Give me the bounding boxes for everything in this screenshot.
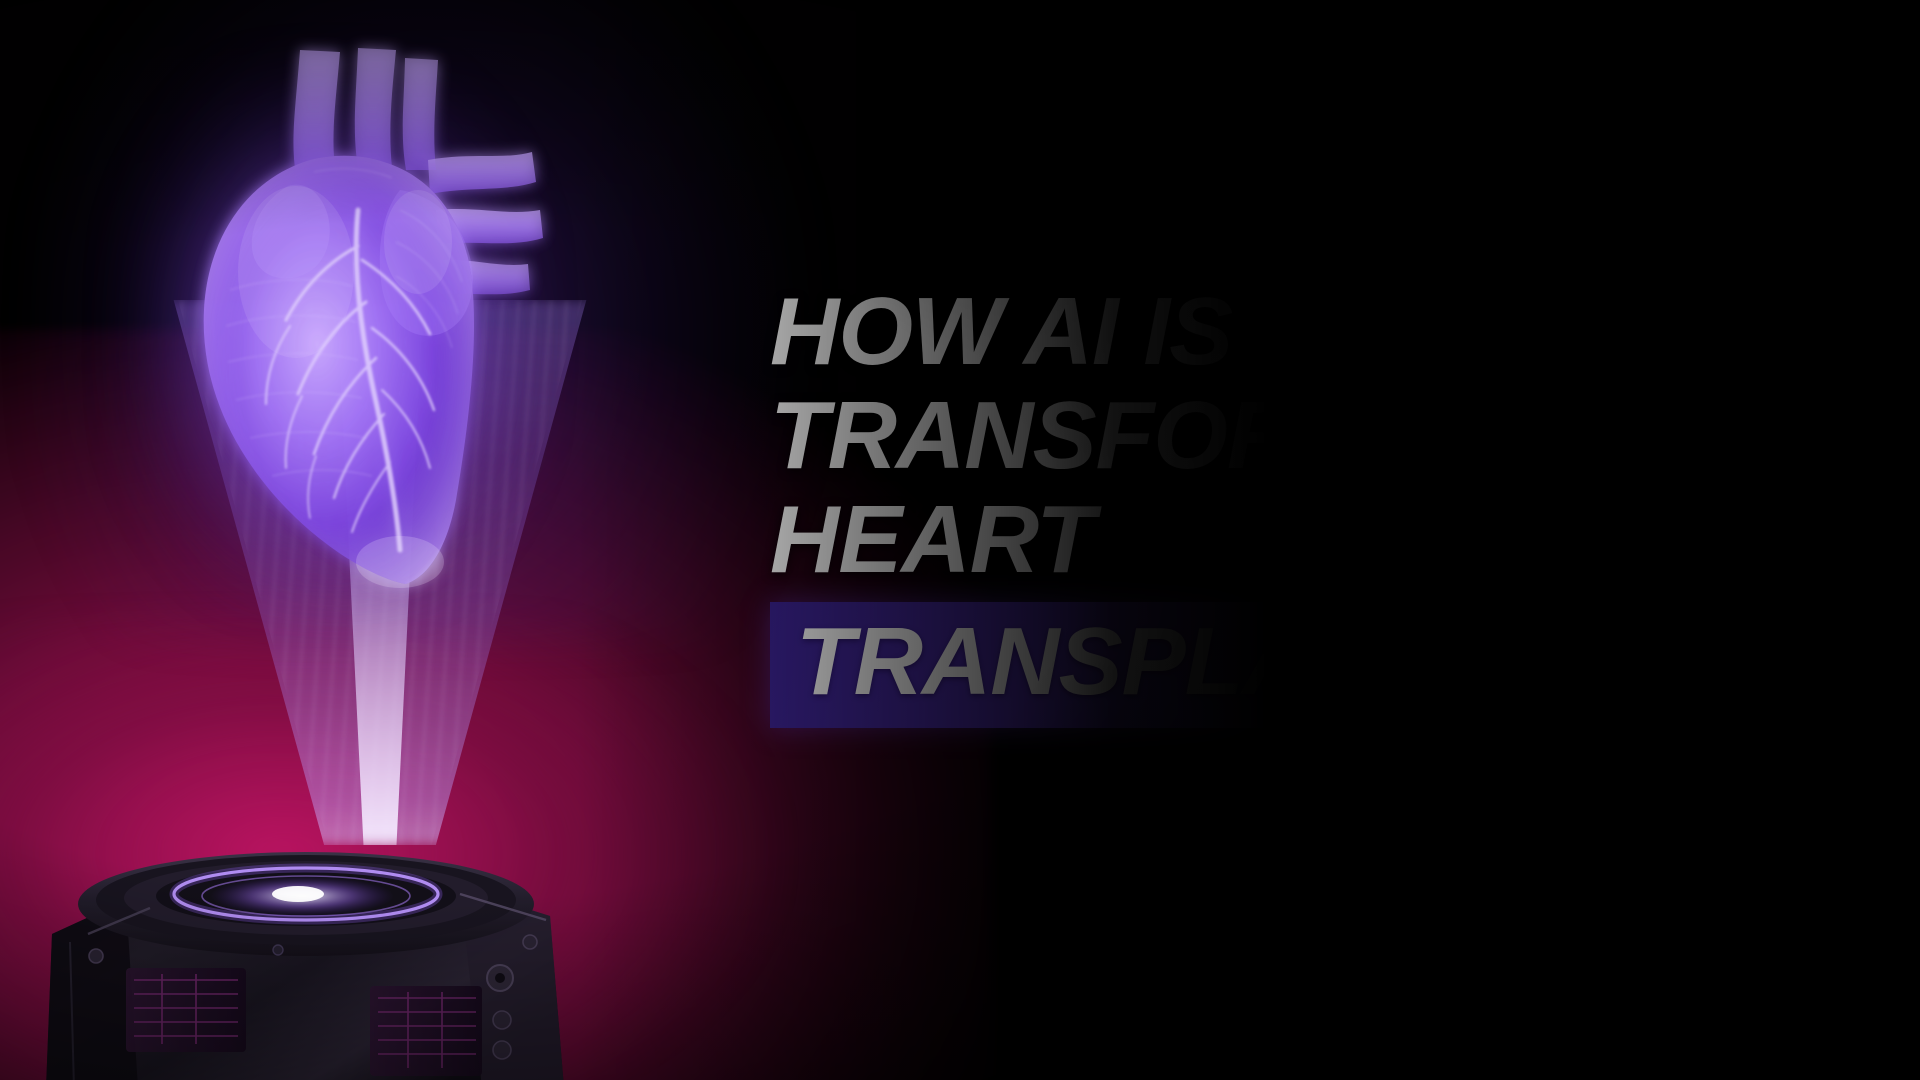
headline-highlight-text: TRANSPLANTS — [796, 610, 1500, 714]
headline-line-3: HEART — [770, 488, 1690, 592]
headline-line-2: TRANSFORMING — [770, 384, 1690, 488]
headline-block: HOW AI IS TRANSFORMING HEART TRANSPLANTS — [770, 280, 1690, 728]
headline-line-1: HOW AI IS — [770, 280, 1690, 384]
background-violet-glow — [30, 0, 810, 640]
holographic-projector-base — [30, 838, 680, 1080]
projector-illustration-icon — [30, 838, 680, 1080]
headline-highlight-bar: TRANSPLANTS — [770, 602, 1526, 728]
poster-canvas: HOW AI IS TRANSFORMING HEART TRANSPLANTS — [0, 0, 1920, 1080]
